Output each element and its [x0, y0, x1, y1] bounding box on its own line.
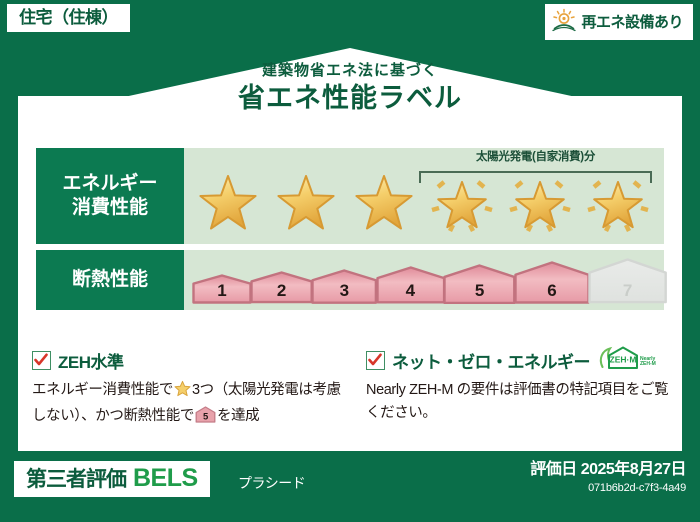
insulation-level-number: 7 — [588, 282, 667, 299]
insulation-performance-row: 断熱性能 1234567 — [36, 250, 664, 310]
insulation-level-4: 4 — [376, 266, 446, 304]
insulation-level-5: 5 — [443, 264, 516, 304]
bels-badge: 第三者評価 BELS — [14, 461, 210, 497]
star-icon — [190, 167, 266, 241]
insulation-row-label-line1: 断熱性能 — [72, 268, 148, 292]
insulation-row-value: 1234567 — [184, 250, 664, 310]
insulation-level-1: 1 — [192, 274, 252, 304]
note-nze-text: Nearly ZEH-M の要件は評価書の特記項目をご覧ください。 — [366, 379, 672, 426]
renewable-equipment-badge: 再エネ設備あり — [545, 4, 693, 40]
insulation-level-2: 2 — [250, 271, 313, 304]
insulation-level-7: 7 — [588, 258, 667, 304]
insulation-row-label: 断熱性能 — [36, 250, 184, 310]
note-zeh-text-part3: を達成 — [217, 408, 259, 424]
label-header: 住宅（住棟） 再エネ設備あり — [0, 0, 700, 52]
insulation-level-number: 1 — [192, 282, 252, 299]
insulation-level-number: 4 — [376, 282, 446, 299]
label-subtitle: 建築物省エネ法に基づく — [18, 62, 682, 80]
note-zeh-text: エネルギー消費性能で 3つ（太陽光発電は考慮しない）、かつ断熱性能で 5 を達成 — [32, 379, 352, 432]
insulation-level-strip: 1234567 — [192, 256, 665, 304]
note-zeh-standard: ZEH水準 エネルギー消費性能で 3つ（太陽光発電は考慮しない）、かつ断熱性能で… — [32, 348, 352, 432]
renewable-badge-label: 再エネ設備あり — [581, 15, 683, 30]
insulation-level-number: 6 — [514, 282, 590, 299]
insulation-level-number: 3 — [311, 282, 377, 299]
label-footer: 第三者評価 BELS プラシード 評価日 2025年8月27日 071b6b2d… — [0, 451, 700, 522]
note-nze-title: ネット・ゼロ・エネルギー — [392, 348, 590, 373]
energy-row-label-line1: エネルギー — [62, 172, 157, 196]
note-zeh-header: ZEH水準 — [32, 348, 352, 372]
bels-jp-label: 第三者評価 — [26, 469, 126, 490]
label-main-title: 省エネ性能ラベル — [18, 82, 682, 116]
star-icon — [174, 380, 191, 405]
check-icon — [32, 351, 51, 370]
performance-rows: エネルギー 消費性能 太陽光発電(自家消費)分 断熱性能 1234567 — [36, 148, 664, 310]
note-nze-header: ネット・ゼロ・エネルギー ZEH·M Nearly ZEH-M — [366, 348, 672, 372]
house-5-icon: 5 — [195, 406, 216, 431]
insulation-level-6: 6 — [514, 261, 590, 304]
energy-row-label: エネルギー 消費性能 — [36, 148, 184, 244]
star-icon — [346, 167, 422, 241]
note-zeh-title: ZEH水準 — [58, 348, 124, 373]
label-title-block: 建築物省エネ法に基づく 省エネ性能ラベル — [18, 62, 682, 116]
energy-row-label-line2: 消費性能 — [72, 196, 148, 220]
builder-name: プラシード — [238, 473, 305, 493]
star-icon — [580, 167, 656, 241]
star-icon — [424, 167, 500, 241]
insulation-level-number: 5 — [443, 282, 516, 299]
star-rating-strip — [190, 167, 656, 241]
bels-en-label: BELS — [133, 466, 198, 491]
zeh-m-logo-icon: ZEH·M Nearly ZEH-M — [599, 345, 661, 376]
insulation-level-number: 2 — [250, 282, 313, 299]
criteria-notes: ZEH水準 エネルギー消費性能で 3つ（太陽光発電は考慮しない）、かつ断熱性能で… — [32, 348, 672, 432]
svg-text:ZEH-M: ZEH-M — [640, 361, 656, 367]
solar-bracket-caption: 太陽光発電(自家消費)分 — [409, 152, 662, 164]
evaluation-info: 評価日 2025年8月27日 071b6b2d-c7f3-4a49 — [530, 460, 686, 495]
energy-performance-row: エネルギー 消費性能 太陽光発電(自家消費)分 — [36, 148, 664, 244]
house-type-badge: 住宅（住棟） — [7, 4, 130, 32]
evaluation-date: 評価日 2025年8月27日 — [530, 460, 686, 479]
evaluation-id: 071b6b2d-c7f3-4a49 — [530, 481, 686, 495]
svg-text:ZEH·M: ZEH·M — [610, 354, 637, 364]
energy-performance-label: 住宅（住棟） 再エネ設備あり — [0, 0, 700, 522]
star-icon — [268, 167, 344, 241]
sun-rise-icon — [551, 8, 577, 36]
note-zeh-text-part1: エネルギー消費性能で — [32, 382, 173, 398]
note-net-zero-energy: ネット・ゼロ・エネルギー ZEH·M Nearly ZEH-M Nearly Z… — [352, 348, 672, 432]
energy-row-value: 太陽光発電(自家消費)分 — [184, 148, 664, 244]
insulation-level-3: 3 — [311, 269, 377, 304]
check-icon — [366, 351, 385, 370]
star-icon — [502, 167, 578, 241]
